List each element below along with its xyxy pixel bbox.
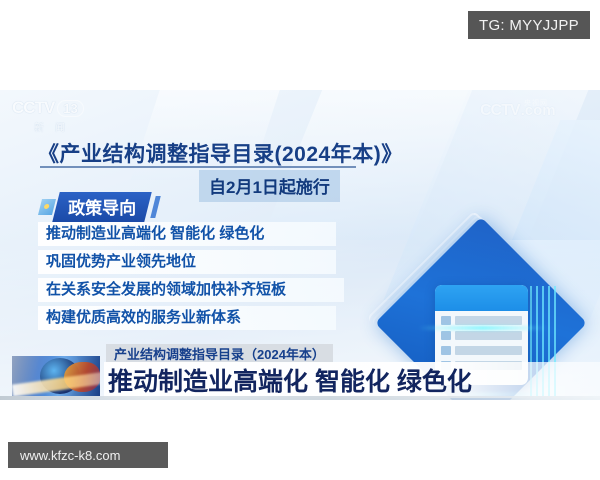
cctv-wordmark: CCTV (12, 98, 54, 118)
document-row-bullet (441, 316, 451, 325)
diamond-glow-streak (418, 326, 548, 330)
lower-third-subtitle: 产业结构调整指导目录（2024年本） (106, 344, 333, 363)
document-row-line (455, 331, 522, 340)
cctv-com-chinese-name: 央视网 (524, 98, 548, 108)
document-row-line (455, 316, 522, 325)
list-item: 构建优质高效的服务业新体系 (38, 306, 336, 330)
title-divider (40, 166, 356, 168)
cctv-com-wordmark: CCTV (480, 102, 520, 120)
list-item: 推动制造业高端化 智能化 绿色化 (38, 222, 336, 246)
cctv-channel-number: 13 (57, 100, 83, 117)
video-player-frame[interactable]: CCTV 13 新闻 CCTV .com 央视网 (0, 90, 600, 400)
list-item: 巩固优势产业领先地位 (38, 250, 336, 274)
screenshot-root: CCTV 13 新闻 CCTV .com 央视网 (0, 0, 600, 480)
effective-date-subtitle: 自2月1日起施行 (199, 170, 340, 202)
lower-third-banner: 产业结构调整指导目录（2024年本） 推动制造业高端化 智能化 绿色化 (0, 340, 600, 400)
badge-accent-icon (38, 199, 56, 215)
cctv-13-logo: CCTV 13 新闻 (12, 98, 98, 134)
lower-third-headline: 推动制造业高端化 智能化 绿色化 (104, 362, 600, 398)
document-card-row (441, 316, 522, 325)
document-row-bullet (441, 331, 451, 340)
document-card-row (441, 331, 522, 340)
status-badge: 政策导向 (52, 192, 151, 222)
policy-direction-badge-group: 政策导向 (40, 194, 158, 220)
lower-third-bottom-strip (0, 396, 600, 400)
cctv-com-watermark: CCTV .com 央视网 (480, 102, 556, 120)
cctv-channel-name: 新闻 (12, 119, 98, 134)
policy-list: 推动制造业高端化 智能化 绿色化 巩固优势产业领先地位 在关系安全发展的领域加快… (38, 222, 336, 334)
cctv-13-logo-row: CCTV 13 (12, 98, 98, 118)
site-watermark-badge: www.kfzc-k8.com (8, 442, 168, 468)
tg-watermark-badge: TG: MYYJJPP (468, 11, 590, 39)
list-item: 在关系安全发展的领域加快补齐短板 (38, 278, 344, 302)
globe-icon (12, 356, 100, 396)
page-title: 《产业结构调整指导目录(2024年本)》 (38, 138, 403, 168)
policy-direction-badge-label: 政策导向 (68, 194, 136, 219)
badge-slash-decor (150, 196, 160, 218)
document-card-header (435, 285, 528, 311)
